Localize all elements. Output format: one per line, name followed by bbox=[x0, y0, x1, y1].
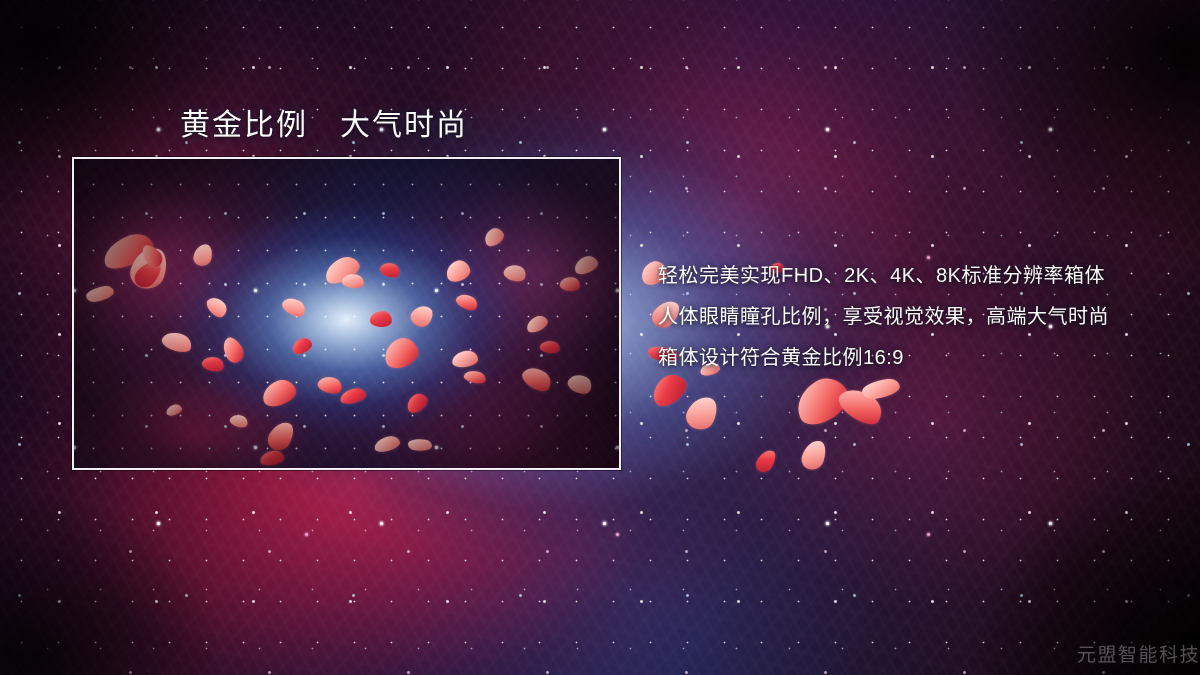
petal-shape bbox=[799, 437, 829, 472]
body-line-1: 轻松完美实现FHD、2K、4K、8K标准分辨率箱体 bbox=[658, 256, 1109, 297]
petal-shape bbox=[834, 381, 888, 430]
body-line-3: 箱体设计符合黄金比例16:9 bbox=[658, 338, 1109, 379]
petal-shape bbox=[861, 377, 901, 400]
page-title: 黄金比例 大气时尚 bbox=[180, 100, 468, 144]
watermark: 元盟智能科技 bbox=[1077, 640, 1200, 667]
petal-shape bbox=[682, 392, 722, 435]
framed-image-vignette bbox=[74, 159, 619, 468]
framed-image[interactable] bbox=[72, 157, 621, 470]
body-line-2: 人体眼睛瞳孔比例，享受视觉效果，高端大气时尚 bbox=[658, 297, 1109, 338]
petal-shape bbox=[753, 447, 779, 476]
petal-shape bbox=[789, 371, 855, 432]
body-copy: 轻松完美实现FHD、2K、4K、8K标准分辨率箱体 人体眼睛瞳孔比例，享受视觉效… bbox=[658, 256, 1109, 379]
presentation-slide: 黄金比例 大气时尚 轻松完美实现FHD、2K、4K、8K标准分辨率箱体 人体眼睛… bbox=[0, 0, 1200, 675]
